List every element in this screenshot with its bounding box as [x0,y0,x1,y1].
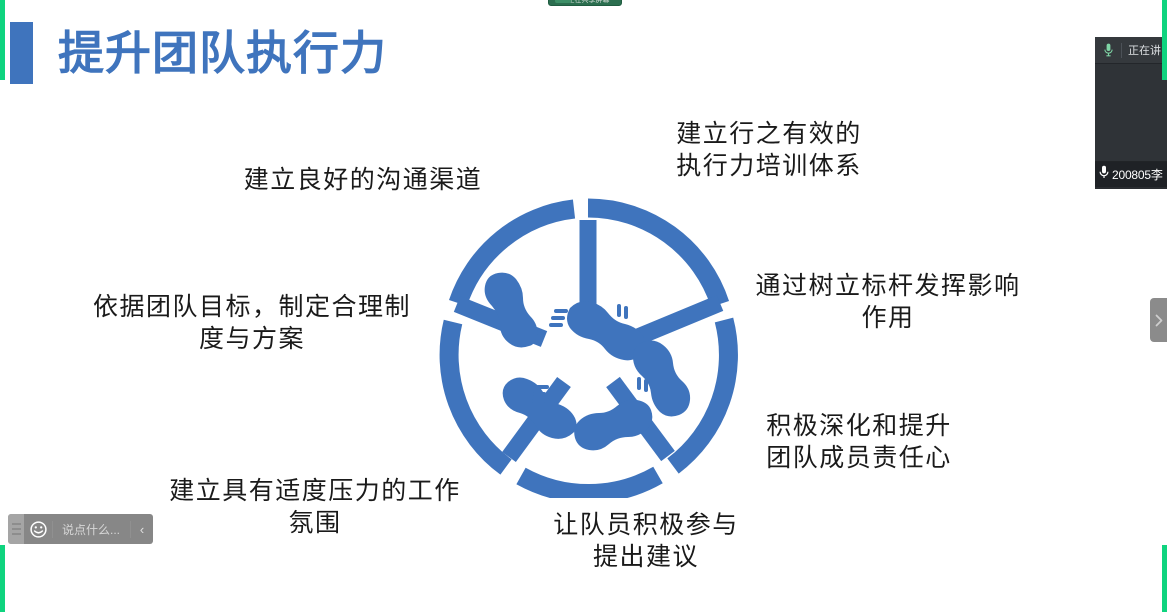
share-border-left-top [0,0,5,80]
label-responsibility: 积极深化和提升 团队成员责任心 [752,410,966,474]
video-panel-footer: 200805李 [1095,162,1167,187]
teamwork-handshake-wheel-icon [437,196,739,498]
chevron-right-icon [1155,314,1163,327]
chat-input[interactable]: 说点什么... [53,521,130,538]
label-benchmark: 通过树立标杆发挥影响 作用 [746,270,1030,334]
label-pressure: 建立具有适度压力的工作 氛围 [153,475,477,539]
video-feed-area [1095,64,1167,162]
chat-collapse-button[interactable]: ‹ [131,522,153,537]
slide-title-block: 提升团队执行力 [10,22,387,84]
share-border-right-bottom [1162,545,1167,612]
speaking-status-text: 正在讲 [1122,42,1161,58]
expand-panel-handle[interactable] [1150,298,1167,342]
footer-microphone-icon [1099,165,1109,184]
smiley-icon[interactable] [24,521,52,538]
video-panel-topbar: 正在讲 [1095,37,1167,64]
participant-video-panel[interactable]: 正在讲 200805李 [1095,37,1167,189]
share-stop-button[interactable] [555,0,571,3]
title-accent-bar [10,22,33,84]
page-title: 提升团队执行力 [58,29,387,77]
label-training: 建立行之有效的 执行力培训体系 [664,118,874,182]
share-border-left-bottom [0,545,5,612]
participant-name: 200805李 [1109,166,1163,183]
label-goals: 依据团队目标，制定合理制 度与方案 [78,291,426,355]
chat-bar[interactable]: 说点什么... ‹ [8,514,153,544]
screen-share-view: 您正在共享屏幕 提升团队执行力 [0,0,1167,612]
microphone-icon[interactable] [1095,43,1121,57]
label-communication: 建立良好的沟通渠道 [232,164,494,196]
chat-menu-icon[interactable] [8,514,24,544]
label-participate: 让队员积极参与 提出建议 [540,509,752,573]
screen-share-toolbar[interactable]: 您正在共享屏幕 [548,0,622,6]
share-border-right-top [1162,0,1167,80]
